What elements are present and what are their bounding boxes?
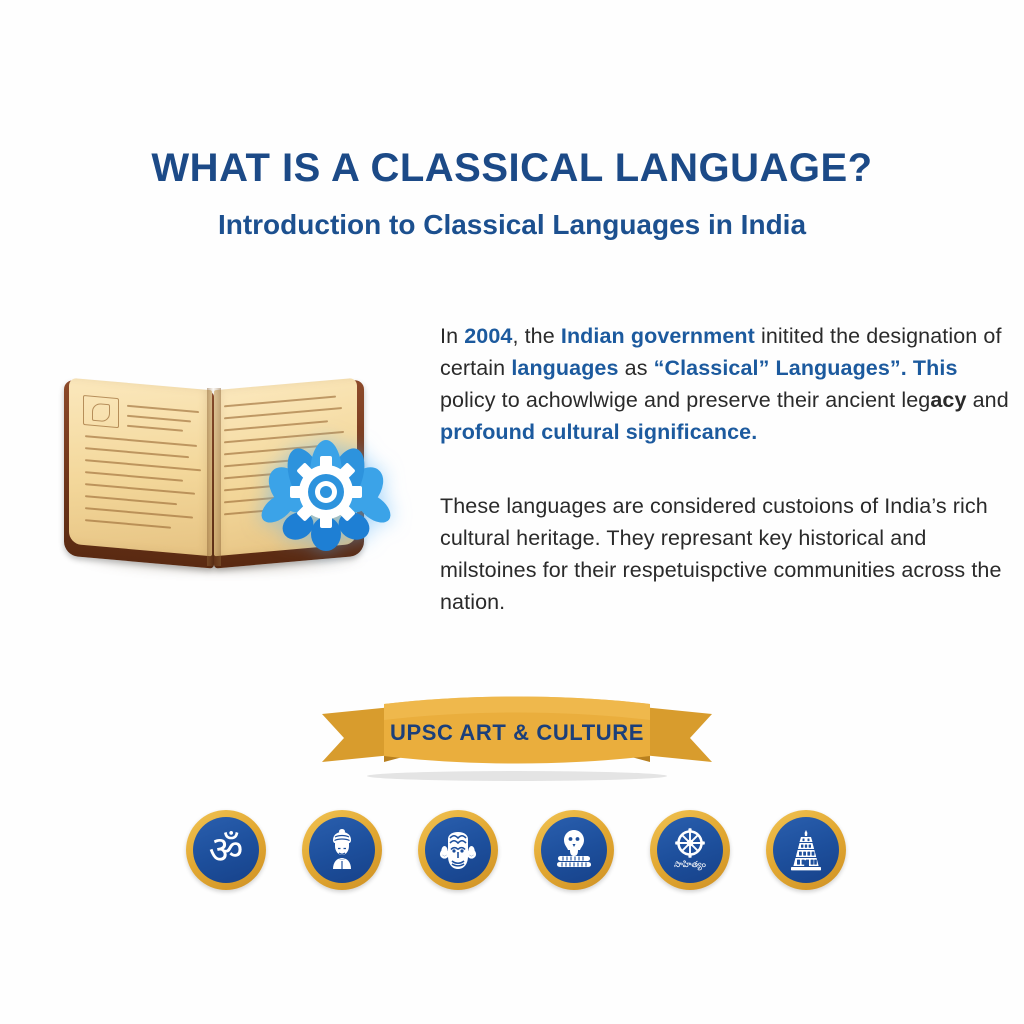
paragraph-two: These languages are considered custoions… (440, 490, 1010, 618)
p1-seg-acy: acy (930, 388, 966, 412)
page-subtitle: Introduction to Classical Languages in I… (0, 208, 1024, 242)
book-page-left (69, 378, 212, 557)
p1-seg-10: and (967, 388, 1009, 412)
open-book-icon (64, 370, 364, 566)
ceremonial-mask-face-icon (435, 827, 481, 873)
lotus-gear-icon (260, 430, 392, 556)
dharma-wheel-icon: సాహిత్యం (666, 826, 714, 874)
p1-seg-profound-significance: profound cultural significance. (440, 420, 757, 444)
sage-thiruvalluvar-icon (319, 827, 365, 873)
header-block: WHAT IS A CLASSICAL LANGUAGE? Introducti… (0, 146, 1024, 242)
dharma-wheel-caption: సాహిత్యం (674, 860, 707, 871)
badge-dharma-wheel[interactable]: సాహిత్యం (650, 810, 730, 890)
badge-sage-thiruvalluvar[interactable] (302, 810, 382, 890)
book-spine (207, 388, 221, 566)
body-text-column: In 2004, the Indian government initited … (440, 320, 1010, 618)
badge-cobra-naga[interactable] (534, 810, 614, 890)
ribbon-banner: UPSC ART & CULTURE (318, 692, 716, 788)
p1-seg-6: as (619, 356, 654, 380)
cobra-naga-icon (551, 827, 597, 873)
p1-seg-year: 2004 (464, 324, 512, 348)
p1-seg-classical-quote: “Classical” Languages”. This (654, 356, 958, 380)
badge-ceremonial-mask[interactable] (418, 810, 498, 890)
paragraph-one: In 2004, the Indian government initited … (440, 320, 1010, 448)
badge-temple-gopuram[interactable] (766, 810, 846, 890)
book-illustration (56, 362, 396, 602)
p1-seg-2: , the (512, 324, 560, 348)
p1-seg-8: policy to achowlwige and preserve their … (440, 388, 930, 412)
badge-om-symbol[interactable]: ॐ (186, 810, 266, 890)
poster-canvas: WHAT IS A CLASSICAL LANGUAGE? Introducti… (0, 0, 1024, 1024)
p1-seg-0: In (440, 324, 464, 348)
p1-seg-languages: languages (511, 356, 618, 380)
manuscript-sketch (83, 395, 119, 428)
page-title: WHAT IS A CLASSICAL LANGUAGE? (0, 146, 1024, 190)
om-symbol-icon: ॐ (209, 831, 244, 869)
temple-gopuram-icon (783, 827, 829, 873)
p1-seg-indian-government: Indian government (561, 324, 755, 348)
ribbon-shape (318, 692, 716, 788)
icon-badge-row: ॐ (186, 808, 846, 892)
